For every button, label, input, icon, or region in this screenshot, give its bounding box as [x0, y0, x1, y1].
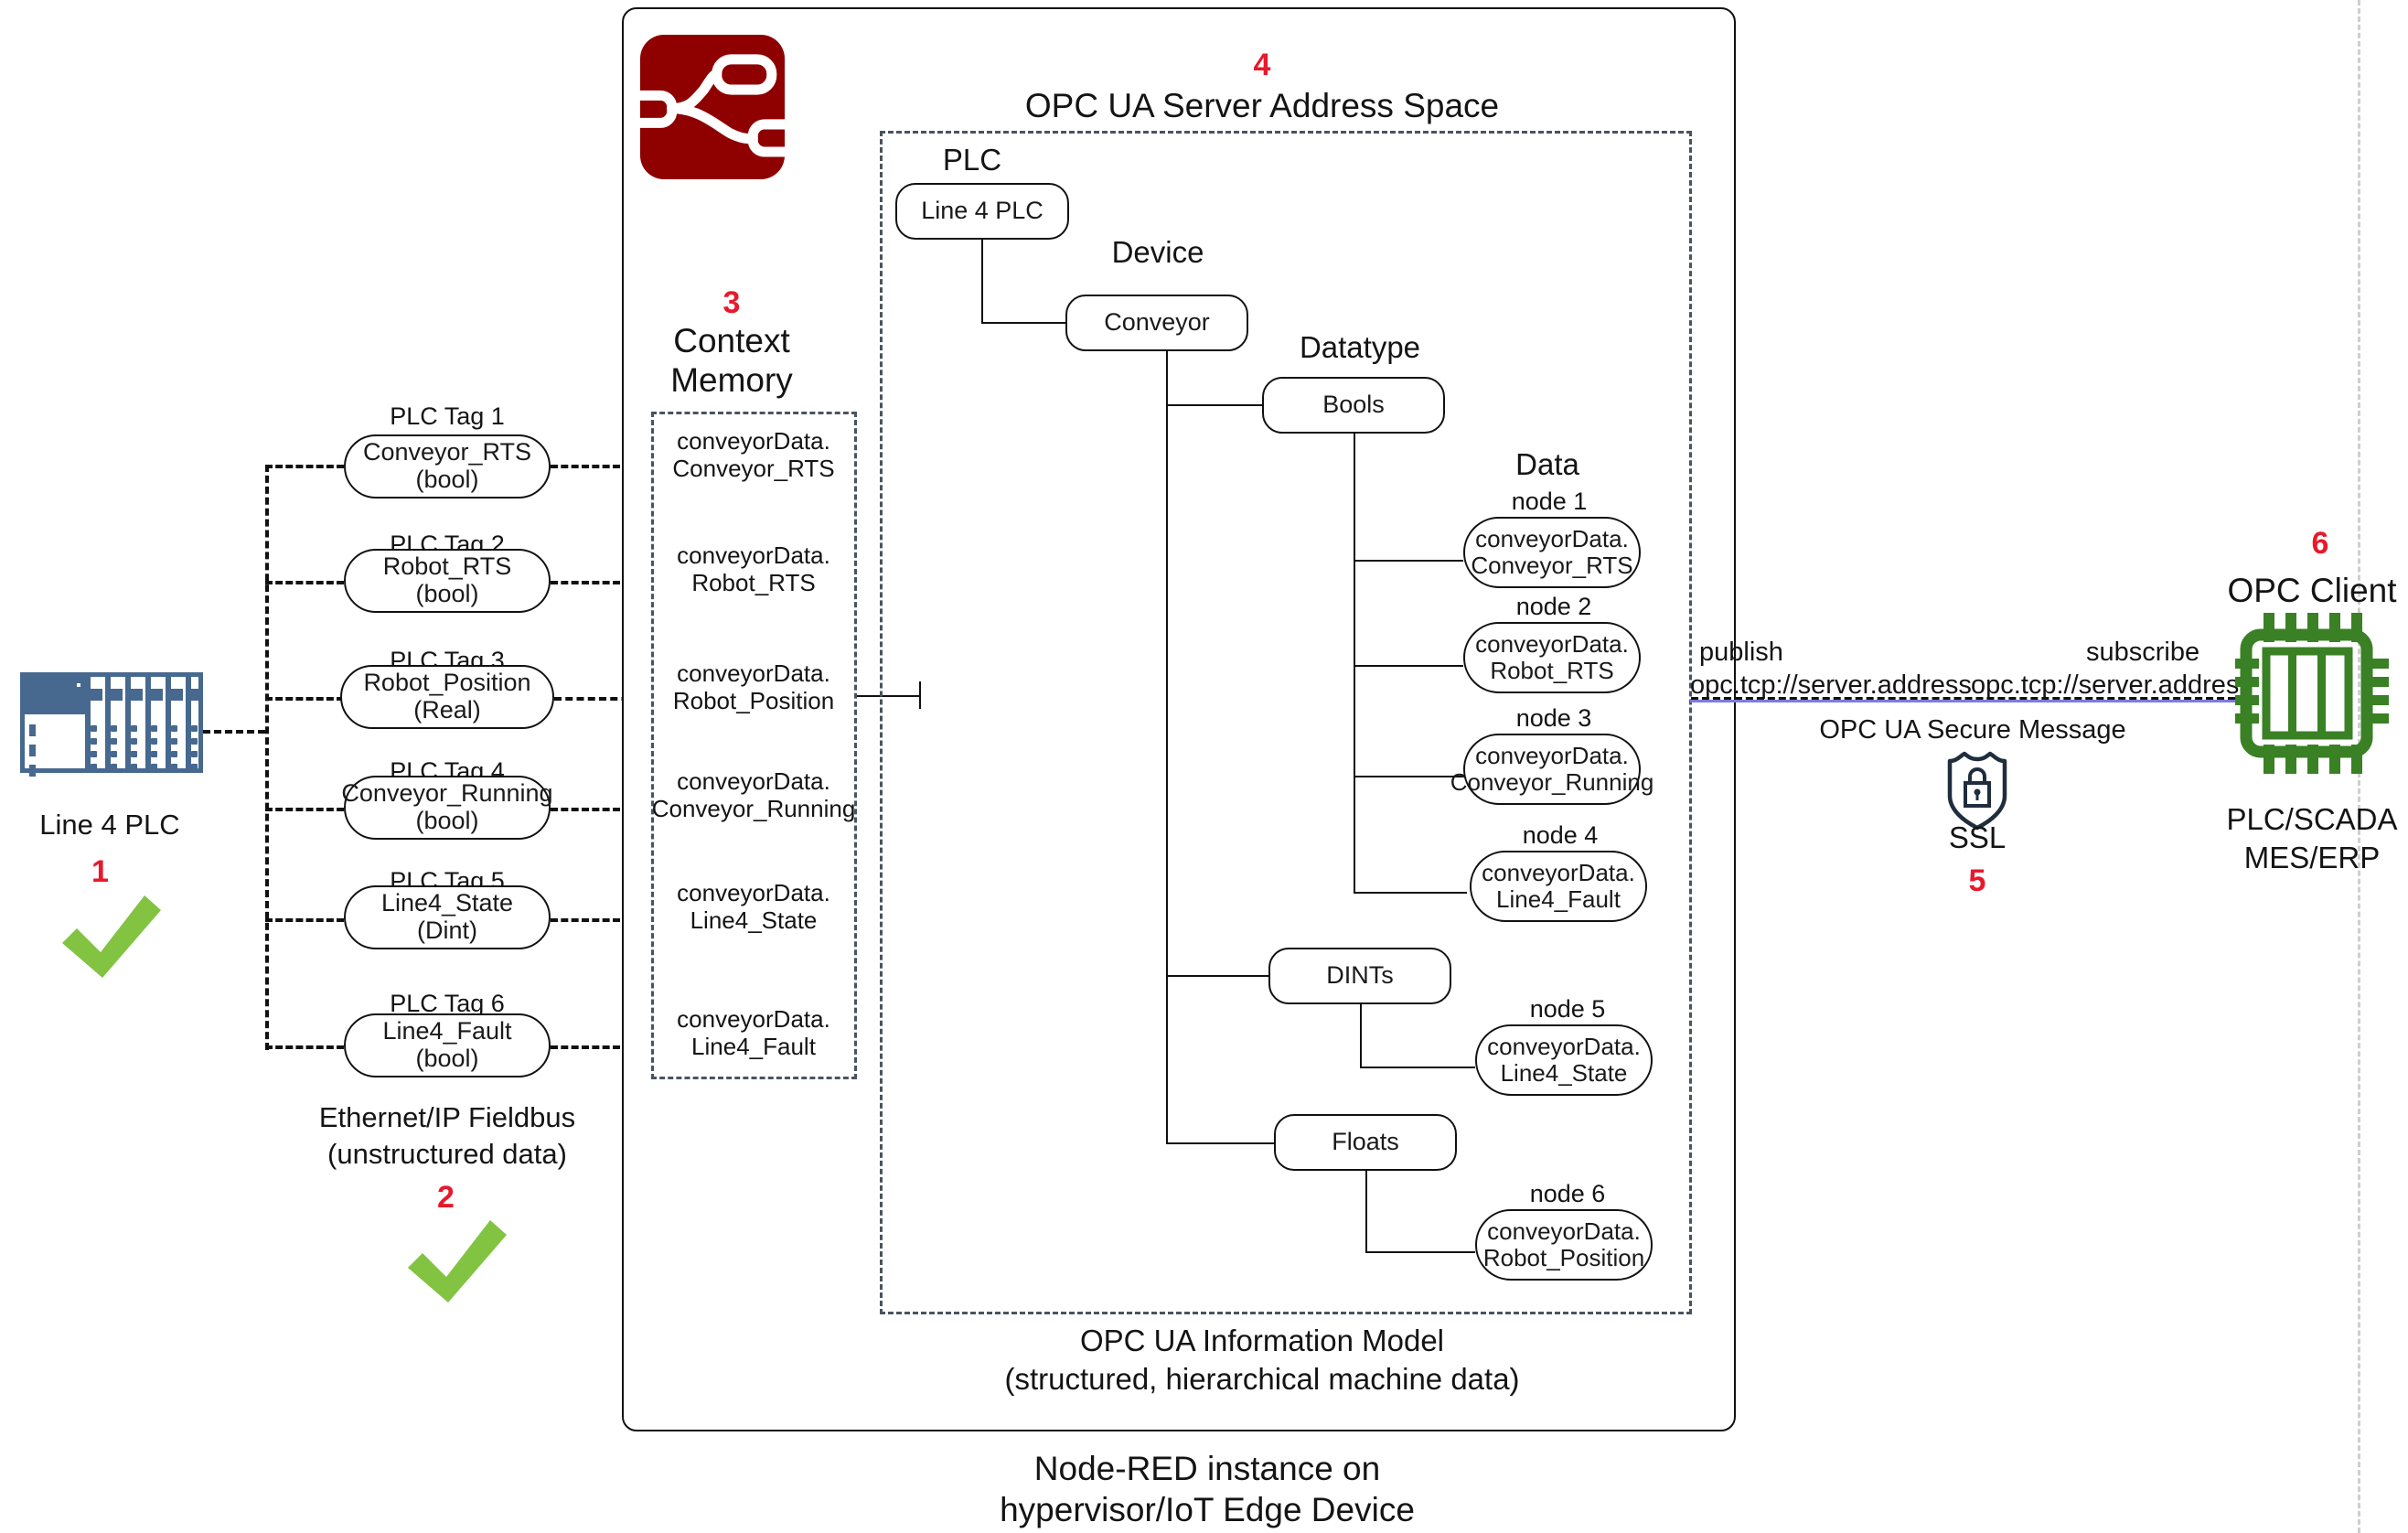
- datatype-dints-label: DINTs: [1326, 962, 1394, 990]
- data-node-2[interactable]: conveyorData. Robot_RTS: [1463, 622, 1641, 693]
- address-space-footer-line1: OPC UA Information Model: [1080, 1324, 1444, 1358]
- floats-to-node6-link: [1365, 1251, 1475, 1253]
- data-node-1-caption: node 1: [1512, 488, 1588, 515]
- plc-to-device-hline: [981, 322, 1067, 324]
- subscribe-url: opc.tcp://server.address: [1971, 670, 2253, 702]
- opc-client-title: OPC Client: [2227, 572, 2396, 609]
- trunk-to-floats-link: [1166, 1142, 1276, 1144]
- step-number-5: 5: [1969, 863, 1986, 899]
- trunk-to-dints-link: [1166, 975, 1270, 977]
- plc-to-device-vline: [981, 240, 983, 323]
- plc-tag-1-type: (bool): [363, 466, 531, 494]
- fieldbus-bus-line: [265, 465, 269, 1050]
- secure-message-label: OPC UA Secure Message: [1819, 715, 2125, 745]
- context-memory-item-2-line2: Robot_RTS: [691, 570, 815, 596]
- plc-tag-3[interactable]: Robot_Position (Real): [340, 665, 554, 729]
- data-node-3-caption: node 3: [1516, 704, 1592, 732]
- bools-to-node2-link: [1354, 665, 1463, 667]
- plc-to-fieldbus-link: [203, 730, 265, 734]
- context-memory-item-6-line2: Line4_Fault: [691, 1034, 816, 1060]
- column-label-device: Device: [1112, 236, 1204, 270]
- context-memory-item-3-line1: conveyorData.: [677, 660, 830, 687]
- address-node-datatype-bools[interactable]: Bools: [1262, 377, 1445, 434]
- data-node-3[interactable]: conveyorData. Conveyor_Running: [1463, 734, 1641, 805]
- plc-tag-6-name: Line4_Fault: [382, 1018, 511, 1045]
- data-node-2-line2: Robot_RTS: [1475, 658, 1629, 684]
- plc-rack-icon: [20, 672, 203, 773]
- data-node-5-caption: node 5: [1530, 995, 1606, 1023]
- cpu-chip-icon: [2235, 611, 2389, 780]
- fieldbus-stub-3: [265, 697, 344, 701]
- green-check-1-icon: [57, 883, 166, 979]
- context-memory-item-1-line2: Conveyor_RTS: [672, 456, 834, 482]
- plc-tag-3-name: Robot_Position: [363, 670, 530, 697]
- plc-tag-5[interactable]: Line4_State (Dint): [344, 885, 551, 949]
- data-node-4-line2: Line4_Fault: [1482, 886, 1635, 913]
- plc-tag-1-name: Conveyor_RTS: [363, 439, 531, 466]
- floats-trunk-vline: [1365, 1171, 1367, 1253]
- plc-tag-1[interactable]: Conveyor_RTS (bool): [344, 434, 551, 498]
- step-number-4: 4: [1254, 48, 1271, 83]
- data-node-5-line2: Line4_State: [1487, 1060, 1641, 1087]
- data-node-6[interactable]: conveyorData. Robot_Position: [1475, 1209, 1653, 1281]
- address-node-device-label: Conveyor: [1104, 309, 1210, 337]
- address-node-plc[interactable]: Line 4 PLC: [895, 183, 1069, 240]
- fieldbus-label-line1: Ethernet/IP Fieldbus: [319, 1102, 575, 1134]
- column-label-plc: PLC: [943, 144, 1001, 177]
- column-label-datatype: Datatype: [1300, 331, 1420, 365]
- device-trunk-vline: [1166, 351, 1168, 1144]
- address-space-title: OPC UA Server Address Space: [1025, 87, 1499, 124]
- context-memory-item-4-line2: Conveyor_Running: [652, 796, 856, 822]
- fieldbus-stub-6: [265, 1045, 344, 1049]
- context-memory-item-1-line1: conveyorData.: [677, 428, 830, 455]
- plc-tag-4[interactable]: Conveyor_Running (bool): [344, 776, 551, 840]
- opc-client-footer-line2: MES/ERP: [2244, 842, 2381, 875]
- subscribe-label: subscribe: [2086, 638, 2199, 667]
- opc-client-footer-line1: PLC/SCADA: [2226, 803, 2397, 837]
- context-memory-box: [651, 412, 857, 1079]
- plc-tag-5-type: (Dint): [381, 917, 513, 945]
- data-node-2-caption: node 2: [1516, 593, 1592, 620]
- data-node-1[interactable]: conveyorData. Conveyor_RTS: [1463, 517, 1641, 588]
- data-node-1-line2: Conveyor_RTS: [1471, 552, 1632, 579]
- plc-tag-1-caption: PLC Tag 1: [390, 402, 505, 430]
- data-node-3-line2: Conveyor_Running: [1450, 769, 1654, 796]
- plc-tag-6[interactable]: Line4_Fault (bool): [344, 1013, 551, 1077]
- plc-tag-3-type: (Real): [363, 697, 530, 724]
- step-number-6: 6: [2312, 526, 2329, 562]
- data-node-6-line1: conveyorData.: [1483, 1218, 1644, 1245]
- column-label-data: Data: [1515, 448, 1579, 482]
- context-memory-item-6-line1: conveyorData.: [677, 1006, 830, 1033]
- fieldbus-stub-4: [265, 808, 344, 811]
- trunk-to-bools-link: [1166, 404, 1264, 406]
- address-node-device[interactable]: Conveyor: [1065, 295, 1248, 351]
- context-memory-title-line1: Context: [673, 322, 790, 359]
- plc-tag-6-type: (bool): [382, 1045, 511, 1073]
- node-red-footer-line2: hypervisor/IoT Edge Device: [1000, 1491, 1415, 1528]
- fieldbus-stub-2: [265, 581, 344, 584]
- datatype-floats-label: Floats: [1332, 1129, 1399, 1156]
- context-memory-title-line2: Memory: [670, 361, 793, 399]
- diagram-canvas: Line 4 PLC 1 Ethernet/IP Fieldbus (unstr…: [0, 0, 2408, 1533]
- data-node-2-line1: conveyorData.: [1475, 631, 1629, 658]
- context-memory-item-5-line2: Line4_State: [690, 907, 818, 934]
- bools-to-node1-link: [1354, 560, 1463, 562]
- bools-to-node3-link: [1354, 776, 1463, 777]
- datatype-bools-label: Bools: [1322, 391, 1385, 419]
- publish-url: opc.tcp://server.address: [1690, 670, 1972, 702]
- data-node-1-line1: conveyorData.: [1471, 526, 1632, 552]
- context-memory-item-3-line2: Robot_Position: [673, 688, 834, 714]
- plc-source-label: Line 4 PLC: [39, 809, 179, 842]
- address-space-footer-line2: (structured, hierarchical machine data): [1004, 1363, 1519, 1397]
- address-node-datatype-dints[interactable]: DINTs: [1268, 948, 1451, 1004]
- address-node-plc-label: Line 4 PLC: [921, 198, 1043, 225]
- publish-label: publish: [1699, 638, 1783, 667]
- plc-tag-5-name: Line4_State: [381, 890, 513, 917]
- data-node-4-line1: conveyorData.: [1482, 860, 1635, 886]
- fieldbus-label-line2: (unstructured data): [327, 1139, 567, 1171]
- context-memory-item-4-line1: conveyorData.: [677, 768, 830, 795]
- ssl-label: SSL: [1949, 821, 2006, 855]
- context-memory-item-2-line1: conveyorData.: [677, 542, 830, 569]
- data-node-4-caption: node 4: [1523, 821, 1599, 849]
- node-red-footer-line1: Node-RED instance on: [1034, 1450, 1380, 1487]
- plc-tag-4-name: Conveyor_Running: [341, 780, 552, 808]
- plc-tag-2[interactable]: Robot_RTS (bool): [344, 549, 551, 613]
- bools-to-node4-link: [1354, 892, 1467, 894]
- data-node-5-line1: conveyorData.: [1487, 1034, 1641, 1060]
- data-node-4[interactable]: conveyorData. Line4_Fault: [1470, 851, 1647, 922]
- data-node-6-line2: Robot_Position: [1483, 1245, 1644, 1271]
- data-node-6-caption: node 6: [1530, 1180, 1606, 1207]
- fieldbus-stub-5: [265, 918, 344, 922]
- step-number-3: 3: [723, 285, 741, 321]
- dints-to-node5-link: [1360, 1067, 1475, 1068]
- data-node-5[interactable]: conveyorData. Line4_State: [1475, 1024, 1653, 1096]
- address-node-datatype-floats[interactable]: Floats: [1274, 1114, 1457, 1171]
- plc-tag-4-type: (bool): [341, 808, 552, 835]
- data-node-3-line1: conveyorData.: [1450, 743, 1654, 769]
- node-red-logo-icon: [640, 35, 785, 179]
- bools-trunk-vline: [1354, 434, 1355, 894]
- plc-tag-2-name: Robot_RTS: [383, 553, 512, 581]
- plc-tag-2-type: (bool): [383, 581, 512, 608]
- dints-trunk-vline: [1360, 1004, 1362, 1068]
- context-memory-item-5-line1: conveyorData.: [677, 880, 830, 906]
- green-check-2-icon: [402, 1207, 512, 1303]
- fieldbus-stub-1: [265, 465, 344, 468]
